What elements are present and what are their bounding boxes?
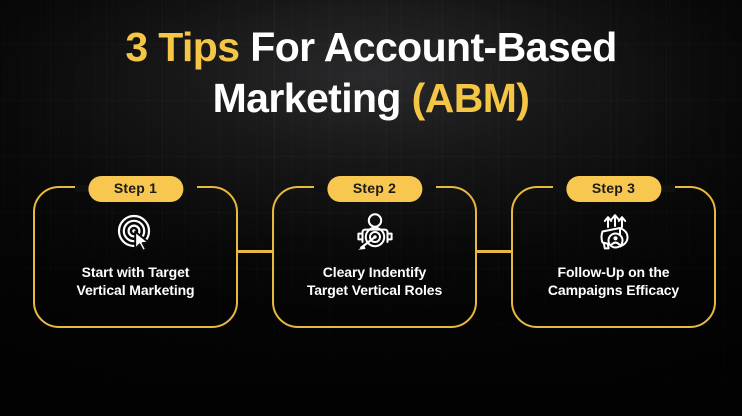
step-badge-1: Step 1 (88, 176, 183, 202)
step-badge-3: Step 3 (566, 176, 661, 202)
title-line-1-rest: For Account-Based (239, 24, 616, 70)
step-card-1[interactable]: Step 1 Start with Target Vertical Market… (33, 186, 238, 328)
megaphone-growth-icon (591, 210, 637, 256)
step-text-3-line2: Campaigns Efficacy (521, 282, 706, 300)
step-text-1-line2: Vertical Marketing (43, 282, 228, 300)
step-badge-2: Step 2 (327, 176, 422, 202)
step-text-2-line2: Target Vertical Roles (282, 282, 467, 300)
title-line-2-rest: Marketing (213, 75, 412, 121)
steps-row: Step 1 Start with Target Vertical Market… (0, 186, 742, 331)
person-target-arrow-icon (352, 210, 398, 256)
step-text-2: Cleary Indentify Target Vertical Roles (282, 264, 467, 300)
step-text-3: Follow-Up on the Campaigns Efficacy (521, 264, 706, 300)
target-cursor-icon (113, 210, 159, 256)
step-text-3-line1: Follow-Up on the (558, 264, 670, 280)
step-card-2[interactable]: Step 2 Cleary Indentify Target Vertical … (272, 186, 477, 328)
infographic-canvas: 3 Tips For Account-Based Marketing (ABM)… (0, 0, 742, 416)
title-line-2: Marketing (ABM) (0, 78, 742, 119)
title-line-1: 3 Tips For Account-Based (0, 27, 742, 68)
step-card-3[interactable]: Step 3 Follow-Up on (511, 186, 716, 328)
step-text-1-line1: Start with Target (82, 264, 190, 280)
step-text-2-line1: Cleary Indentify (323, 264, 426, 280)
title-highlight-tips: 3 Tips (125, 24, 239, 70)
step-text-1: Start with Target Vertical Marketing (43, 264, 228, 300)
title-highlight-abm: (ABM) (412, 75, 530, 121)
page-title: 3 Tips For Account-Based Marketing (ABM) (0, 27, 742, 119)
